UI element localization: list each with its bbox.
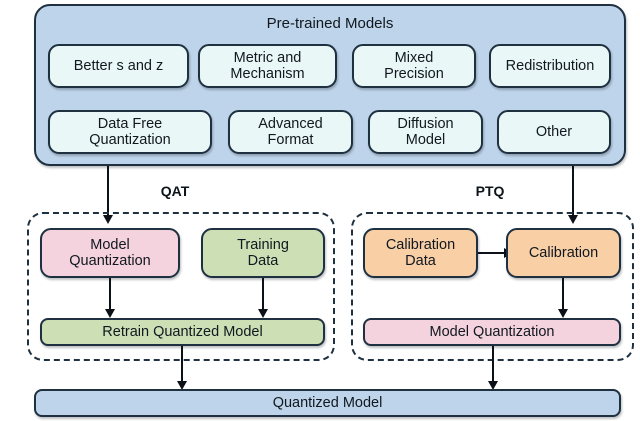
chip-label: Data Free Quantization (89, 116, 170, 148)
chip-better-s-and-z[interactable]: Better s and z (48, 44, 189, 88)
chip-diffusion-model[interactable]: Diffusion Model (368, 110, 483, 154)
chip-label: Redistribution (506, 58, 595, 74)
qat-model-quantization-label: Model Quantization (69, 237, 150, 269)
ptq-calibration-data-box[interactable]: Calibration Data (363, 228, 478, 278)
connector-calibration-data-to-calibration-line (478, 252, 505, 254)
quantized-model-output-box[interactable]: Quantized Model (34, 389, 621, 417)
connector-pretrained-to-qat-line (107, 166, 109, 216)
connector-qat-trainingdata-to-retrain-line (262, 278, 264, 310)
chip-metric-and-mechanism[interactable]: Metric and Mechanism (198, 44, 337, 88)
chip-label: Better s and z (74, 58, 163, 74)
chip-data-free-quantization[interactable]: Data Free Quantization (48, 110, 212, 154)
chip-label: Diffusion Model (397, 116, 453, 148)
ptq-group-label: PTQ (455, 183, 525, 199)
diagram-canvas: Pre-trained Models Better s and z Metric… (0, 0, 640, 421)
chip-label: Metric and Mechanism (230, 50, 304, 82)
pretrained-models-title: Pre-trained Models (36, 16, 624, 33)
qat-training-data-box[interactable]: Training Data (201, 228, 325, 278)
ptq-calibration-box[interactable]: Calibration (506, 228, 621, 278)
connector-ptq-to-output-line (492, 346, 494, 382)
chip-label: Mixed Precision (384, 50, 444, 82)
connector-qat-to-output-line (181, 346, 183, 382)
connector-qat-modelquant-to-retrain-arrowhead (105, 309, 115, 318)
ptq-calibration-label: Calibration (529, 245, 598, 261)
connector-pretrained-to-ptq-line (572, 166, 574, 216)
chip-label: Other (536, 124, 572, 140)
ptq-model-quantization-label: Model Quantization (430, 324, 555, 340)
connector-ptq-calibration-to-modelquant-arrowhead (558, 309, 568, 318)
qat-group-label: QAT (140, 183, 210, 199)
ptq-model-quantization-box[interactable]: Model Quantization (363, 318, 621, 346)
qat-training-data-label: Training Data (237, 237, 289, 269)
chip-other[interactable]: Other (497, 110, 611, 154)
ptq-calibration-data-label: Calibration Data (386, 237, 455, 269)
chip-redistribution[interactable]: Redistribution (489, 44, 611, 88)
chip-label: Advanced Format (258, 116, 323, 148)
connector-qat-trainingdata-to-retrain-arrowhead (258, 309, 268, 318)
connector-ptq-calibration-to-modelquant-line (562, 278, 564, 310)
connector-qat-modelquant-to-retrain-line (109, 278, 111, 310)
qat-retrain-box[interactable]: Retrain Quantized Model (40, 318, 325, 346)
quantized-model-output-label: Quantized Model (273, 395, 383, 411)
qat-model-quantization-box[interactable]: Model Quantization (40, 228, 180, 278)
qat-retrain-label: Retrain Quantized Model (102, 324, 262, 340)
chip-advanced-format[interactable]: Advanced Format (228, 110, 353, 154)
chip-mixed-precision[interactable]: Mixed Precision (352, 44, 476, 88)
